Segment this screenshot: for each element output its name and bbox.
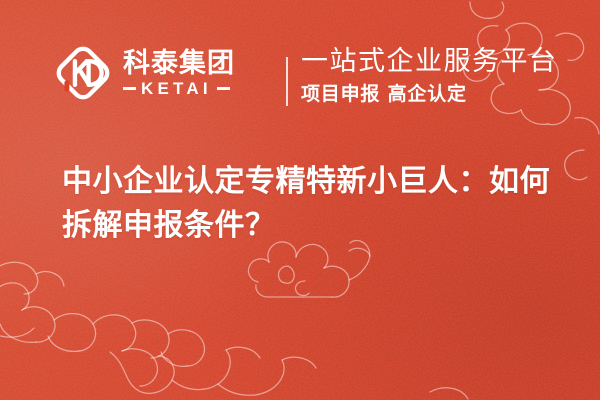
brand-name-cn: 科泰集团	[123, 49, 235, 78]
brand-wordmark: 科泰集团 KETAI	[123, 49, 235, 98]
slogan-primary: 一站式企业服务平台	[301, 45, 558, 78]
banner-header: 科泰集团 KETAI 一站式企业服务平台 项目申报 高企认定	[0, 0, 600, 140]
slogan-secondary: 项目申报 高企认定	[301, 83, 558, 106]
header-divider	[286, 57, 288, 106]
wordmark-rule-right	[217, 87, 230, 90]
wordmark-rule-left	[123, 87, 136, 90]
brand-name-en-row: KETAI	[123, 80, 235, 98]
brand-logo[interactable]: 科泰集团 KETAI	[52, 42, 235, 104]
promo-banner: 科泰集团 KETAI 一站式企业服务平台 项目申报 高企认定 中小企业认定专精特…	[0, 0, 600, 400]
brand-name-en: KETAI	[141, 80, 212, 98]
slogan-block: 一站式企业服务平台 项目申报 高企认定	[301, 45, 558, 106]
page-title: 中小企业认定专精特新小巨人：如何拆解申报条件？	[62, 160, 550, 248]
ketai-diamond-logo-icon	[52, 42, 114, 104]
